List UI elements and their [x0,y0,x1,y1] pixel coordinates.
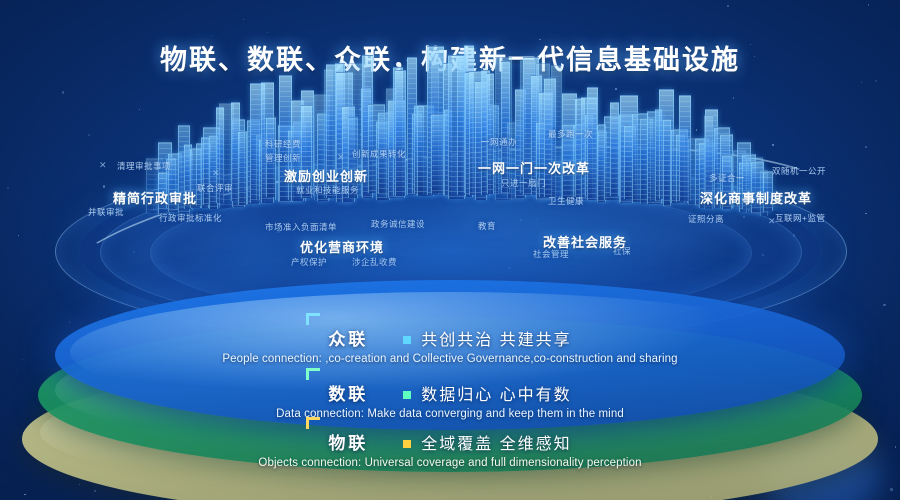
x-marker-icon: ✕ [337,152,345,163]
city-minor-label-14: 证照分离 [688,213,724,225]
city-major-label-3: 深化商事制度改革 [700,188,812,207]
square-marker-icon [403,391,411,399]
city-minor-label-0: 清理审批事项 [117,160,171,172]
particle [875,80,877,82]
city-minor-label-8: 一网通办 [481,136,517,148]
layer-english-people: People connection: ,co-creation and Coll… [0,353,900,365]
city-minor-label-17: 产权保护 [291,256,327,268]
city-minor-label-11: 多证合一 [709,172,745,184]
city-minor-label-12: 双随机一公开 [772,165,826,177]
particle [890,488,893,491]
city-major-label-4: 优化营商环境 [300,237,384,256]
slide-canvas: 物联、数联、众联，构建新一代信息基础设施 清理审批事项并联审批联合评审行政审批标… [0,0,900,500]
city-minor-label-20: 教育 [478,220,496,232]
layer-english-data: Data connection: Make data converging an… [0,408,900,420]
layer-english-objects: Objects connection: Universal coverage a… [0,457,900,469]
particle [243,19,244,20]
square-marker-icon [403,440,411,448]
city-minor-label-1: 并联审批 [88,206,124,218]
layer-subtitle-people: 共创共治 共建共享 [421,332,571,349]
city-minor-label-3: 行政审批标准化 [159,212,222,224]
city-minor-label-9: 最多跑一次 [548,128,593,140]
city-major-label-0: 精简行政审批 [113,188,197,207]
particle [79,484,80,485]
building [395,70,406,196]
layer-title-people: 众联 [328,330,368,349]
layer-subtitle-data: 数据归心 心中有数 [421,387,571,404]
x-marker-icon: ✕ [768,216,776,227]
city-minor-label-18: 涉企乱收费 [352,256,397,268]
particle [868,4,870,6]
city-minor-label-10: 只进一扇门 [501,177,546,189]
city-major-label-5: 改善社会服务 [543,232,627,251]
particle [94,490,96,492]
particle [615,88,617,90]
square-marker-icon [403,336,411,344]
x-marker-icon: ✕ [212,168,220,179]
city-minor-label-15: 市场准入负面清单 [265,221,337,233]
layer-title-objects: 物联 [328,434,368,453]
particle [212,35,213,36]
layer-row-data: 数联 数据归心 心中有数 Data connection: Make data … [0,380,900,420]
particle [861,82,862,83]
city-major-label-2: 一网一门一次改革 [478,158,590,177]
building [238,131,247,205]
x-marker-icon: ✕ [99,160,107,171]
particle [24,494,25,495]
layer-row-objects: 物联 全域覆盖 全维感知 Objects connection: Univers… [0,429,900,469]
city-minor-label-6: 创新成果转化 [352,148,406,160]
city-minor-label-13: 互联网+监管 [775,212,825,224]
corner-bracket-icon [306,313,320,325]
particle [62,91,64,93]
city-major-label-1: 激励创业创新 [284,166,368,185]
layer-row-people: 众联 共创共治 共建共享 People connection: ,co-crea… [0,325,900,365]
city-minor-label-7: 就业和技能服务 [296,184,359,196]
building [610,102,619,196]
city-minor-label-19: 卫生健康 [548,195,584,207]
city-minor-label-4: 科研经费 [265,138,301,150]
particle [267,32,268,33]
city-minor-label-2: 联合评审 [197,182,233,194]
particle [727,5,730,8]
layer-title-data: 数联 [328,385,368,404]
city-minor-label-5: 管理创新 [265,152,301,164]
corner-bracket-icon [306,368,320,380]
layer-subtitle-objects: 全域覆盖 全维感知 [421,436,571,453]
city-minor-label-16: 政务诚信建设 [371,218,425,230]
building [663,119,670,206]
corner-bracket-icon [306,417,320,429]
